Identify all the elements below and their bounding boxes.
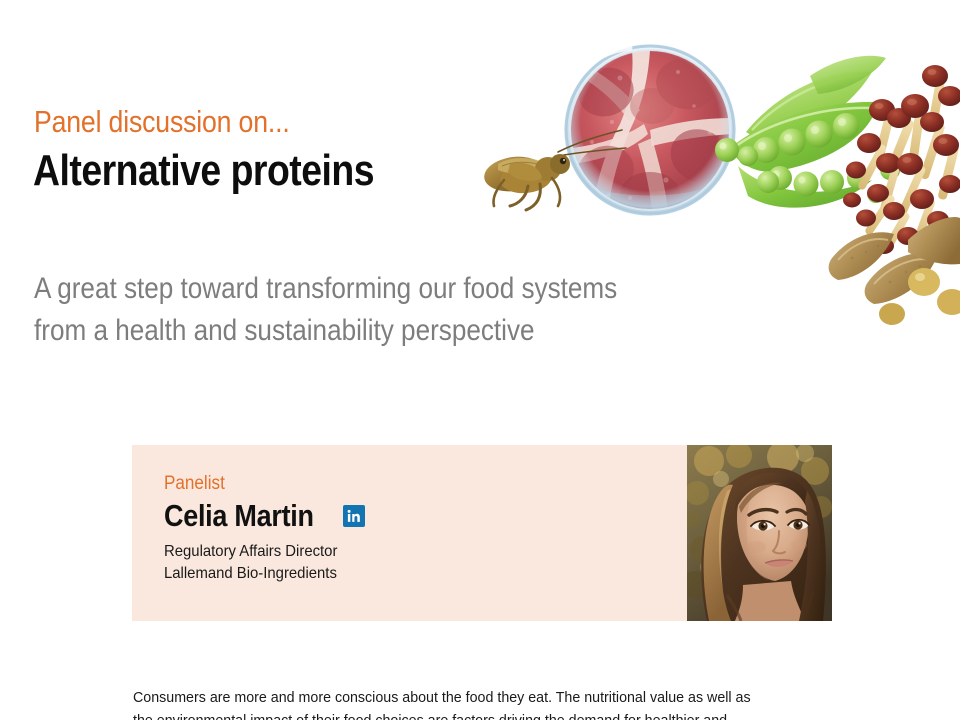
panelist-name-row: Celia Martin: [164, 497, 365, 535]
body-paragraph: Consumers are more and more conscious ab…: [133, 686, 836, 720]
cultured-meat-petri-dish: [564, 44, 738, 216]
pea-pods: [715, 56, 900, 208]
panelist-organization: Lallemand Bio-Ingredients: [164, 563, 351, 585]
panelist-role-label: Panelist: [164, 472, 345, 496]
page-title: Alternative proteins: [33, 146, 374, 196]
subtitle-line-1: A great step toward transforming our foo…: [34, 268, 695, 310]
linkedin-icon[interactable]: [343, 505, 365, 527]
body-line-2: the environmental impact of their food c…: [133, 709, 836, 720]
slide-eyebrow: Panel discussion on...: [34, 104, 290, 140]
panelist-name: Celia Martin: [164, 497, 314, 535]
panelist-job-title: Regulatory Affairs Director: [164, 541, 351, 563]
subtitle-line-2: from a health and sustainability perspec…: [34, 310, 695, 352]
avatar: [687, 445, 832, 621]
panelist-details: Panelist Celia Martin Regulatory Affairs…: [164, 472, 365, 585]
slide-canvas: Panel discussion on... Alternative prote…: [0, 0, 960, 720]
body-line-1: Consumers are more and more conscious ab…: [133, 686, 836, 709]
slide-subtitle: A great step toward transforming our foo…: [34, 268, 695, 352]
